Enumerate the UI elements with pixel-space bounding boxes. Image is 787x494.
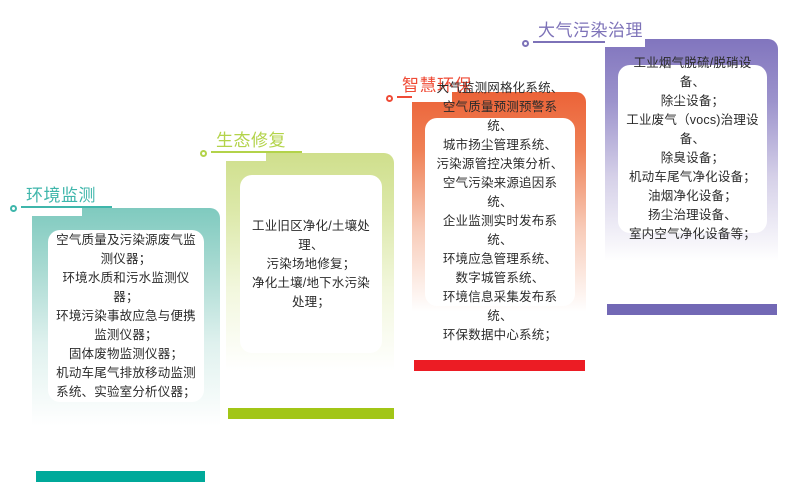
text-plate-air-pollution-control: 工业烟气脱硫/脱硝设备、 除尘设备； 工业废气（vocs)治理设备、 除臭设备；…: [618, 65, 767, 233]
footbar-environmental-monitoring: [36, 471, 205, 482]
footbar-smart-environmental-protection: [414, 360, 585, 371]
text-plate-environmental-monitoring: 空气质量及污染源废气监 测仪器； 环境水质和污水监测仪器； 环境污染事故应急与便…: [48, 230, 204, 402]
infographic-canvas: 环境监测 空气质量及污染源废气监 测仪器； 环境水质和污水监测仪器； 环境污染事…: [0, 0, 787, 494]
footbar-ecological-restoration: [228, 408, 394, 419]
column-body-text: 大气监测网格化系统、 空气质量预测预警系统、 城市扬尘管理系统、 污染源管控决策…: [425, 79, 575, 345]
text-plate-smart-environmental-protection: 大气监测网格化系统、 空气质量预测预警系统、 城市扬尘管理系统、 污染源管控决策…: [425, 118, 575, 306]
column-body-text: 工业烟气脱硫/脱硝设备、 除尘设备； 工业废气（vocs)治理设备、 除臭设备；…: [618, 54, 767, 244]
column-body-text: 工业旧区净化/土壤处理、 污染场地修复； 净化土壤/地下水污染处理；: [240, 217, 382, 312]
heading-dot-marker: [10, 205, 17, 212]
card-notch: [605, 39, 645, 47]
text-plate-ecological-restoration: 工业旧区净化/土壤处理、 污染场地修复； 净化土壤/地下水污染处理；: [240, 175, 382, 353]
card-notch: [32, 208, 82, 216]
column-label: 生态修复: [200, 129, 286, 152]
column-label: 环境监测: [10, 184, 96, 207]
heading-dot-marker: [200, 150, 207, 157]
footbar-air-pollution-control: [607, 304, 777, 315]
card-notch: [226, 153, 266, 161]
card-air-pollution-control: 工业烟气脱硫/脱硝设备、 除尘设备； 工业废气（vocs)治理设备、 除臭设备；…: [605, 39, 778, 261]
heading-dot-marker: [522, 40, 529, 47]
column-body-text: 空气质量及污染源废气监 测仪器； 环境水质和污水监测仪器； 环境污染事故应急与便…: [48, 231, 204, 402]
card-smart-environmental-protection: 大气监测网格化系统、 空气质量预测预警系统、 城市扬尘管理系统、 污染源管控决策…: [412, 92, 586, 312]
column-heading-ecological-restoration: 生态修复: [200, 129, 286, 152]
card-environmental-monitoring: 空气质量及污染源废气监 测仪器； 环境水质和污水监测仪器； 环境污染事故应急与便…: [32, 208, 220, 426]
heading-dot-marker: [386, 95, 393, 102]
card-ecological-restoration: 工业旧区净化/土壤处理、 污染场地修复； 净化土壤/地下水污染处理；: [226, 153, 394, 371]
column-heading-environmental-monitoring: 环境监测: [10, 184, 96, 207]
